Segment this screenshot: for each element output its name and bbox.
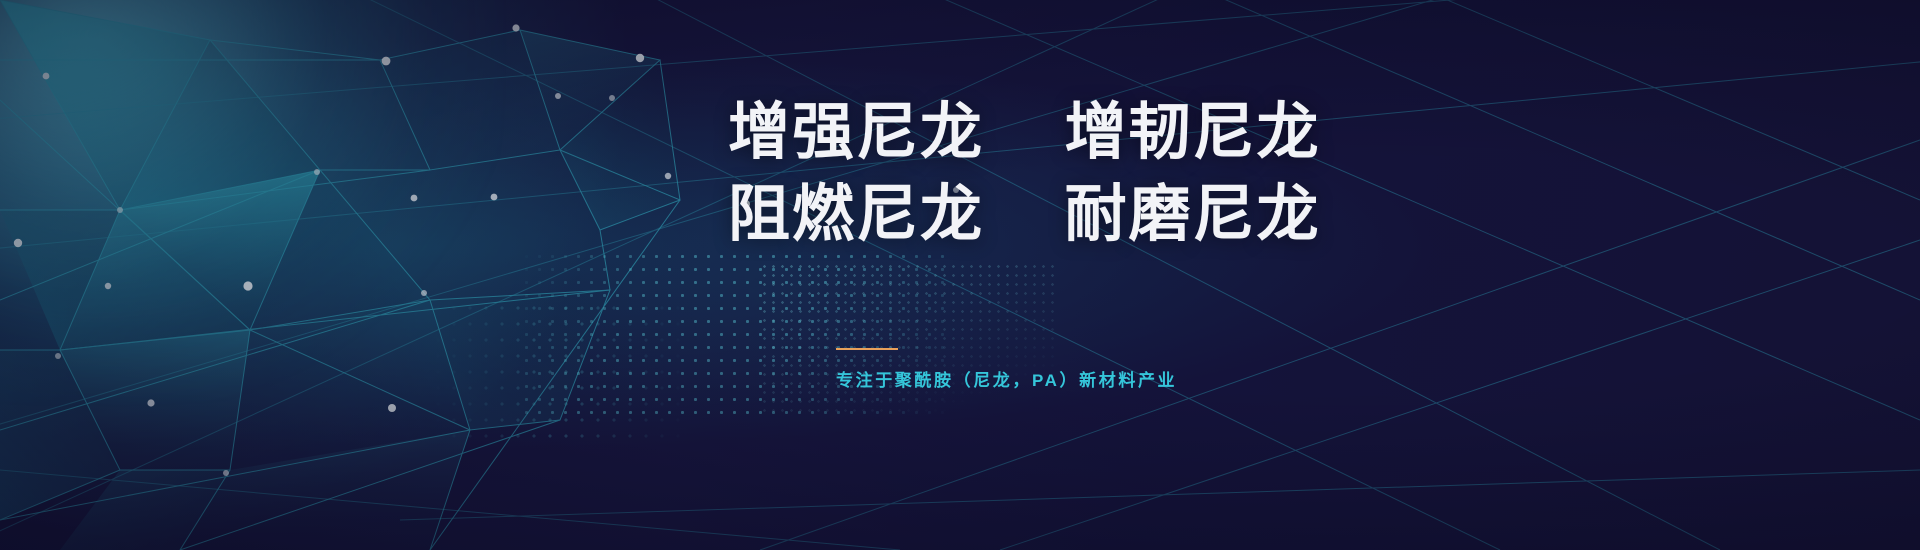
banner-content: 增强尼龙 增韧尼龙 阻燃尼龙 耐磨尼龙 专注于聚酰胺（尼龙，PA）新材料产业: [728, 0, 1628, 550]
orange-divider: [836, 348, 898, 350]
headline-phrase-reinforced-nylon: 增强尼龙: [728, 98, 984, 167]
headline-phrase-flame-retardant-nylon: 阻燃尼龙: [728, 180, 984, 249]
hero-banner: 增强尼龙 增韧尼龙 阻燃尼龙 耐磨尼龙 专注于聚酰胺（尼龙，PA）新材料产业: [0, 0, 1920, 550]
headline-phrase-toughened-nylon: 增韧尼龙: [1064, 98, 1320, 167]
headline-line-2: 阻燃尼龙 耐磨尼龙: [728, 174, 1628, 256]
tagline-block: 专注于聚酰胺（尼龙，PA）新材料产业: [836, 348, 1636, 391]
headline-line-1: 增强尼龙 增韧尼龙: [728, 92, 1628, 174]
headline-phrase-wear-resistant-nylon: 耐磨尼龙: [1064, 180, 1320, 249]
headline: 增强尼龙 增韧尼龙 阻燃尼龙 耐磨尼龙: [728, 92, 1628, 256]
tagline: 专注于聚酰胺（尼龙，PA）新材料产业: [836, 366, 1636, 391]
